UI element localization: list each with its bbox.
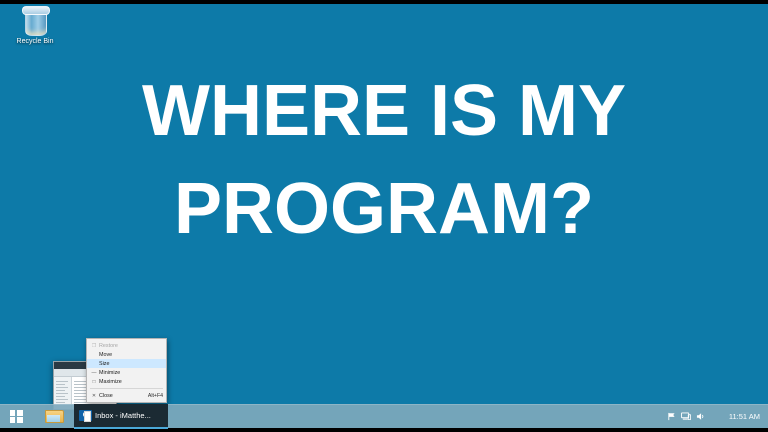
taskbar-buttons: O Inbox - iMatthe...	[32, 405, 168, 428]
maximize-icon: □	[89, 379, 99, 385]
menu-item-label: Size	[99, 361, 163, 367]
network-icon[interactable]	[679, 405, 694, 428]
menu-item-size[interactable]: Size	[87, 359, 166, 368]
taskbar-item-label: Inbox - iMatthe...	[95, 411, 151, 420]
screen: Recycle Bin WHERE IS MY PROGRAM?	[0, 0, 768, 432]
menu-item-shortcut: Alt+F4	[144, 393, 163, 399]
desktop-icon-recycle-bin[interactable]: Recycle Bin	[4, 6, 66, 54]
minimize-icon: —	[89, 370, 99, 376]
menu-item-label: Move	[99, 352, 163, 358]
taskbar-item-file-explorer[interactable]	[32, 405, 74, 428]
page-title: WHERE IS MY PROGRAM?	[0, 62, 768, 258]
page-title-line-1: WHERE IS MY	[0, 62, 768, 160]
desktop[interactable]: Recycle Bin WHERE IS MY PROGRAM?	[0, 4, 768, 428]
action-center-icon[interactable]	[664, 405, 679, 428]
system-context-menu[interactable]: ❐ Restore Move Size — Minimize □ Maximiz…	[86, 338, 167, 403]
folder-icon	[45, 410, 62, 423]
taskbar-clock[interactable]: 11:51 AM	[715, 412, 768, 421]
menu-item-minimize[interactable]: — Minimize	[87, 368, 166, 377]
start-button[interactable]	[0, 405, 32, 428]
close-icon: ✕	[89, 393, 99, 399]
taskbar[interactable]: O Inbox - iMatthe...	[0, 404, 768, 428]
menu-separator	[90, 388, 163, 389]
menu-item-label: Restore	[99, 343, 163, 349]
recycle-bin-icon	[22, 6, 48, 36]
page-title-line-2: PROGRAM?	[0, 160, 768, 258]
system-tray	[664, 405, 715, 428]
desktop-icon-label: Recycle Bin	[17, 38, 54, 46]
restore-icon: ❐	[89, 343, 99, 349]
menu-item-label: Minimize	[99, 370, 163, 376]
menu-item-label: Maximize	[99, 379, 163, 385]
menu-item-close[interactable]: ✕ Close Alt+F4	[87, 391, 166, 400]
menu-item-restore[interactable]: ❐ Restore	[87, 341, 166, 350]
volume-icon[interactable]	[694, 405, 709, 428]
taskbar-item-outlook[interactable]: O Inbox - iMatthe...	[74, 404, 168, 429]
clock-time: 11:51 AM	[729, 412, 760, 421]
outlook-icon: O	[79, 410, 92, 421]
menu-item-move[interactable]: Move	[87, 350, 166, 359]
windows-logo-icon	[10, 410, 23, 423]
menu-item-label: Close	[99, 393, 144, 399]
menu-item-maximize[interactable]: □ Maximize	[87, 377, 166, 386]
